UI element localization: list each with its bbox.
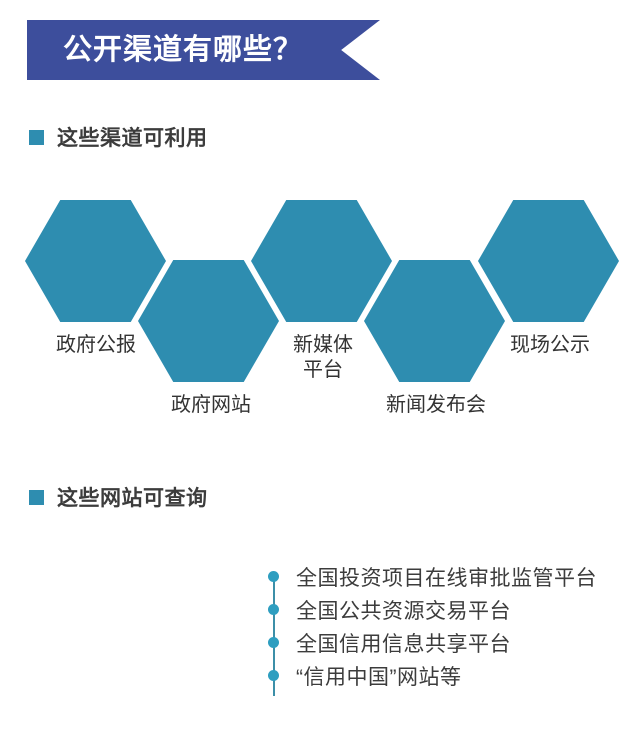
list-item[interactable]: 全国公共资源交易平台 [262,593,597,626]
hexagon-label-2: 政府网站 [136,393,286,418]
hexagon-label-4: 新闻发布会 [361,393,511,418]
hexagon-shape-3[interactable] [251,200,392,322]
hexagon-shape-1[interactable] [25,200,166,322]
list-item-label: 全国投资项目在线审批监管平台 [296,562,597,592]
section-title-channels: 这些渠道可利用 [57,122,208,152]
dot-icon [268,637,279,648]
title-banner: 公开渠道有哪些？ [27,20,380,80]
hexagon-shape-5[interactable] [478,200,619,322]
dot-icon [268,670,279,681]
dot-icon [268,571,279,582]
list-item[interactable]: 全国信用信息共享平台 [262,626,597,659]
list-item-label: 全国公共资源交易平台 [296,595,511,625]
square-bullet-icon [29,130,44,145]
hexagon-label-5: 现场公示 [475,333,625,358]
square-bullet-icon [29,490,44,505]
section-header-websites: 这些网站可查询 [29,482,208,512]
list-item-label: 全国信用信息共享平台 [296,628,511,658]
section-header-channels: 这些渠道可利用 [29,122,208,152]
section-title-websites: 这些网站可查询 [57,482,208,512]
list-item[interactable]: “信用中国”网站等 [262,659,597,692]
list-item[interactable]: 全国投资项目在线审批监管平台 [262,560,597,593]
hexagon-label-1: 政府公报 [21,333,171,358]
hexagon-label-3: 新媒体 平台 [248,333,398,383]
page-title: 公开渠道有哪些？ [27,20,339,80]
hexagon-cluster [0,190,640,440]
list-item-label: “信用中国”网站等 [296,661,462,691]
website-list: 全国投资项目在线审批监管平台 全国公共资源交易平台 全国信用信息共享平台 “信用… [262,560,597,692]
dot-icon [268,604,279,615]
